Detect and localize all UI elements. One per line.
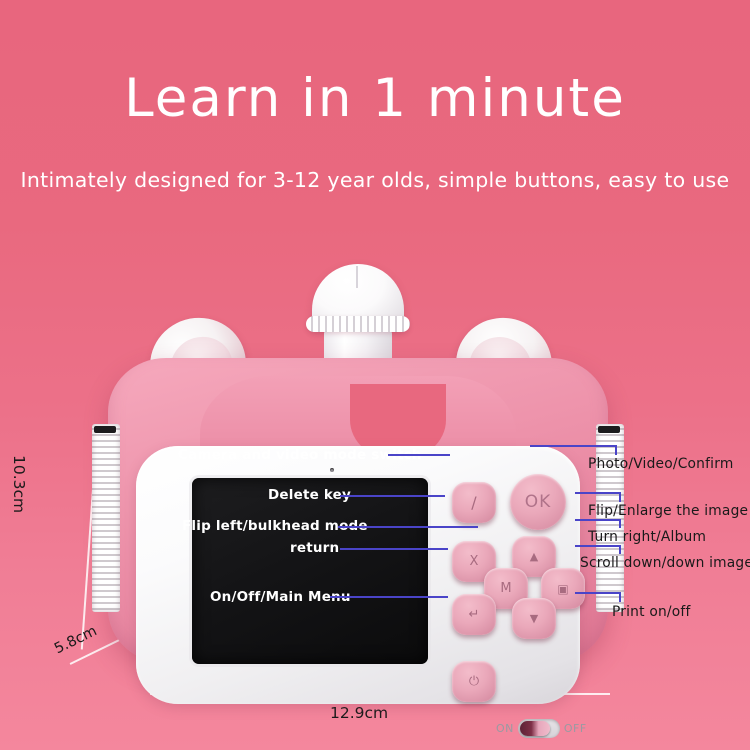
ok-glyph: OK <box>525 492 552 512</box>
label-mode-switch: Camera and video mode switch <box>178 447 422 463</box>
microphone-icon <box>330 468 334 472</box>
switch-off-label: OFF <box>564 722 587 735</box>
leader-ok-confirm-drop <box>615 445 617 455</box>
mode-button[interactable]: / <box>452 482 496 523</box>
leader-scroll-down <box>575 545 620 547</box>
label-flip-enlarge: Flip/Enlarge the image <box>588 503 748 519</box>
label-scroll-down: Scroll down/down image <box>580 555 750 571</box>
camera-device: / OK X ▲ M ▣ ↵ <box>108 300 628 680</box>
down-glyph: ▼ <box>530 612 538 625</box>
switch-knob[interactable] <box>520 721 550 736</box>
delete-glyph: X <box>470 554 479 569</box>
album-glyph: ▣ <box>557 582 568 596</box>
dimension-width-label: 12.9cm <box>330 704 388 722</box>
leader-delete-key <box>340 495 445 497</box>
camera-shell: / OK X ▲ M ▣ ↵ <box>108 358 608 663</box>
print-power-switch[interactable]: ON OFF <box>496 717 592 739</box>
return-button[interactable]: ↵ <box>452 594 496 635</box>
camera-face: / OK X ▲ M ▣ ↵ <box>136 446 580 704</box>
leader-return <box>340 548 448 550</box>
label-print-onoff: Print on/off <box>612 604 691 620</box>
label-turn-right: Turn right/Album <box>588 529 706 545</box>
leader-print-onoff <box>575 592 620 594</box>
paper-slot-left <box>92 424 120 612</box>
menu-glyph: M <box>500 581 511 596</box>
leader-flip-left <box>338 526 478 528</box>
leader-power-menu <box>330 596 448 598</box>
leader-print-onoff-drop <box>619 592 621 602</box>
camera-screen <box>192 478 428 664</box>
promo-page: Learn in 1 minute Intimately designed fo… <box>0 0 750 750</box>
leader-mode-switch <box>388 454 450 456</box>
page-title: Learn in 1 minute <box>0 70 750 128</box>
page-subtitle: Intimately designed for 3-12 year olds, … <box>0 168 750 192</box>
leader-flip-enlarge <box>575 492 620 494</box>
dimension-height-label: 10.3cm <box>10 455 28 513</box>
mode-glyph: / <box>471 493 476 512</box>
switch-track[interactable] <box>518 719 560 738</box>
label-ok-confirm: Photo/Video/Confirm <box>588 456 734 472</box>
leader-turn-right <box>575 519 620 521</box>
label-delete-key: Delete key <box>268 487 351 503</box>
leader-ok-confirm <box>530 445 616 447</box>
return-glyph: ↵ <box>469 607 480 622</box>
label-return: return <box>290 540 339 556</box>
power-button[interactable]: ⏻ <box>452 661 496 702</box>
up-glyph: ▲ <box>530 550 538 563</box>
leader-flip-enlarge-drop <box>619 492 621 502</box>
ok-button[interactable]: OK <box>510 474 566 530</box>
leader-scroll-down-drop <box>619 545 621 554</box>
leader-turn-right-drop <box>619 519 621 528</box>
down-button[interactable]: ▼ <box>512 598 556 639</box>
switch-on-label: ON <box>496 722 514 735</box>
power-glyph: ⏻ <box>469 674 479 689</box>
